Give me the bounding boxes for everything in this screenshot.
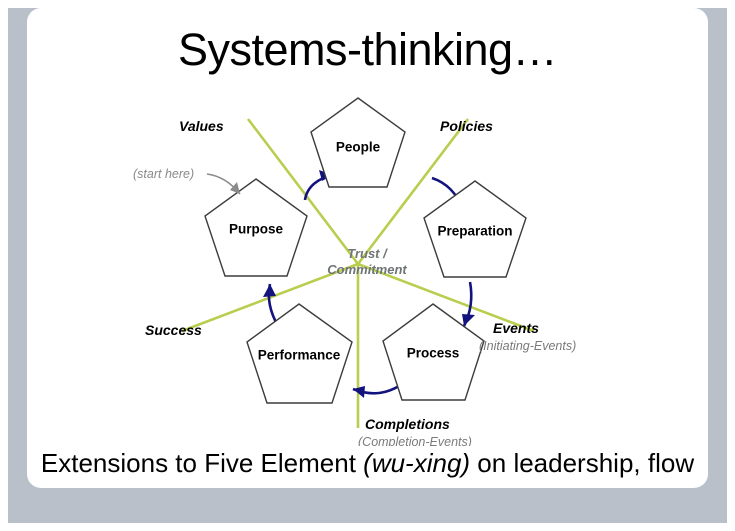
start-here-arrowhead [230, 182, 240, 194]
spoke-label-success: Success [145, 322, 202, 338]
cycle-arrowhead-preparation-to-process [462, 314, 475, 326]
systems-thinking-diagram: Trust / Commitment [27, 86, 708, 446]
start-here-hint: (start here) [133, 167, 240, 194]
node-label-people: People [336, 140, 381, 155]
hub-label-group: Trust / Commitment [327, 246, 407, 277]
caption-italic-term: (wu-xing) [363, 448, 470, 478]
caption-prefix: Extensions to Five Element [41, 448, 363, 478]
node-performance[interactable]: Performance [247, 304, 352, 403]
spoke-label-values: Values [179, 118, 224, 134]
page-title: Systems-thinking… [27, 26, 708, 73]
node-purpose[interactable]: Purpose [205, 179, 307, 276]
spoke-sublabel-events: (Initiating-Events) [479, 339, 576, 353]
spoke-label-policies: Policies [440, 118, 493, 134]
cycle-arrowhead-performance-to-purpose [263, 284, 276, 297]
spoke-label-events: Events (Initiating-Events) [479, 320, 576, 353]
spoke-label-success-text: Success [145, 322, 202, 338]
node-preparation[interactable]: Preparation [424, 181, 526, 277]
slide-background-frame: Systems-thinking… Tr [0, 0, 735, 531]
hub-label-line1: Trust / [347, 246, 388, 261]
diagram-canvas: Trust / Commitment [27, 86, 708, 446]
node-label-performance: Performance [258, 348, 341, 363]
node-label-process: Process [407, 346, 460, 361]
spoke-label-events-text: Events [493, 320, 539, 336]
slide-caption: Extensions to Five Element (wu-xing) on … [27, 448, 708, 479]
spoke-label-policies-text: Policies [440, 118, 493, 134]
node-label-preparation: Preparation [437, 224, 512, 239]
caption-suffix: on leadership, flow [470, 448, 694, 478]
hub-label-line2: Commitment [327, 262, 407, 277]
spoke-label-completions-text: Completions [365, 416, 450, 432]
spoke-label-completions: Completions (Completion-Events) [358, 416, 472, 446]
spoke-label-values-text: Values [179, 118, 224, 134]
start-here-label: (start here) [133, 167, 194, 181]
node-label-purpose: Purpose [229, 222, 284, 237]
slide-card: Systems-thinking… Tr [27, 8, 708, 488]
spoke-sublabel-completions: (Completion-Events) [358, 435, 472, 446]
node-people[interactable]: People [311, 98, 405, 187]
